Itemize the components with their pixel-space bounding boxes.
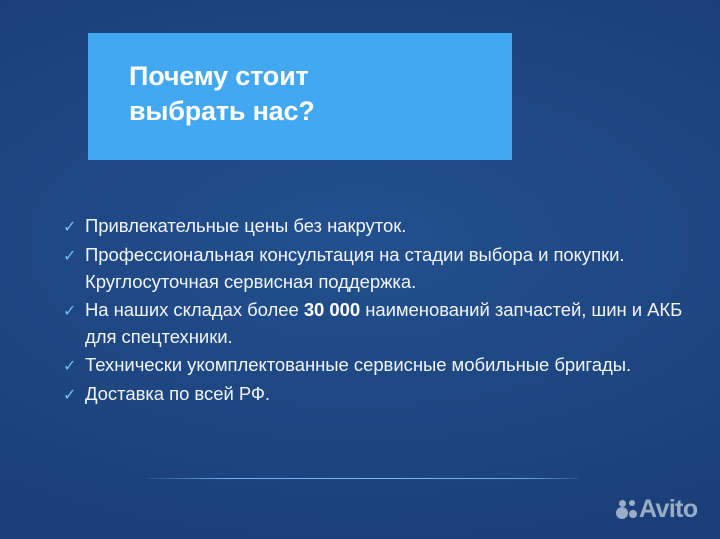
check-icon: ✓ [63,351,85,379]
check-icon: ✓ [63,296,85,324]
highlighted-number: 30 000 [304,299,360,320]
avito-dots-logo-icon [616,499,637,520]
check-icon: ✓ [63,212,85,240]
slide-canvas: Почему стоит выбрать нас? ✓Привлекательн… [0,0,720,539]
list-item-label: Профессиональная консультация на стадии … [85,241,688,295]
page-title: Почему стоит выбрать нас? [129,59,498,129]
list-item-label: Привлекательные цены без накруток. [85,212,688,239]
avito-watermark: Avito [616,497,698,522]
list-item: ✓Профессиональная консультация на стадии… [63,241,688,295]
footer-divider [148,478,578,479]
benefits-list: ✓Привлекательные цены без накруток.✓Проф… [63,212,688,409]
list-item: ✓Доставка по всей РФ. [63,380,688,408]
list-item: ✓Привлекательные цены без накруток. [63,212,688,240]
list-item: ✓Технически укомплектованные сервисные м… [63,351,688,379]
avito-brand-label: Avito [639,497,698,522]
list-item-label: Технически укомплектованные сервисные мо… [85,351,688,378]
check-icon: ✓ [63,380,85,408]
list-item: ✓На наших складах более 30 000 наименова… [63,296,688,350]
check-icon: ✓ [63,241,85,269]
title-banner: Почему стоит выбрать нас? [88,33,512,160]
list-item-label: Доставка по всей РФ. [85,380,688,407]
list-item-label: На наших складах более 30 000 наименован… [85,296,688,350]
